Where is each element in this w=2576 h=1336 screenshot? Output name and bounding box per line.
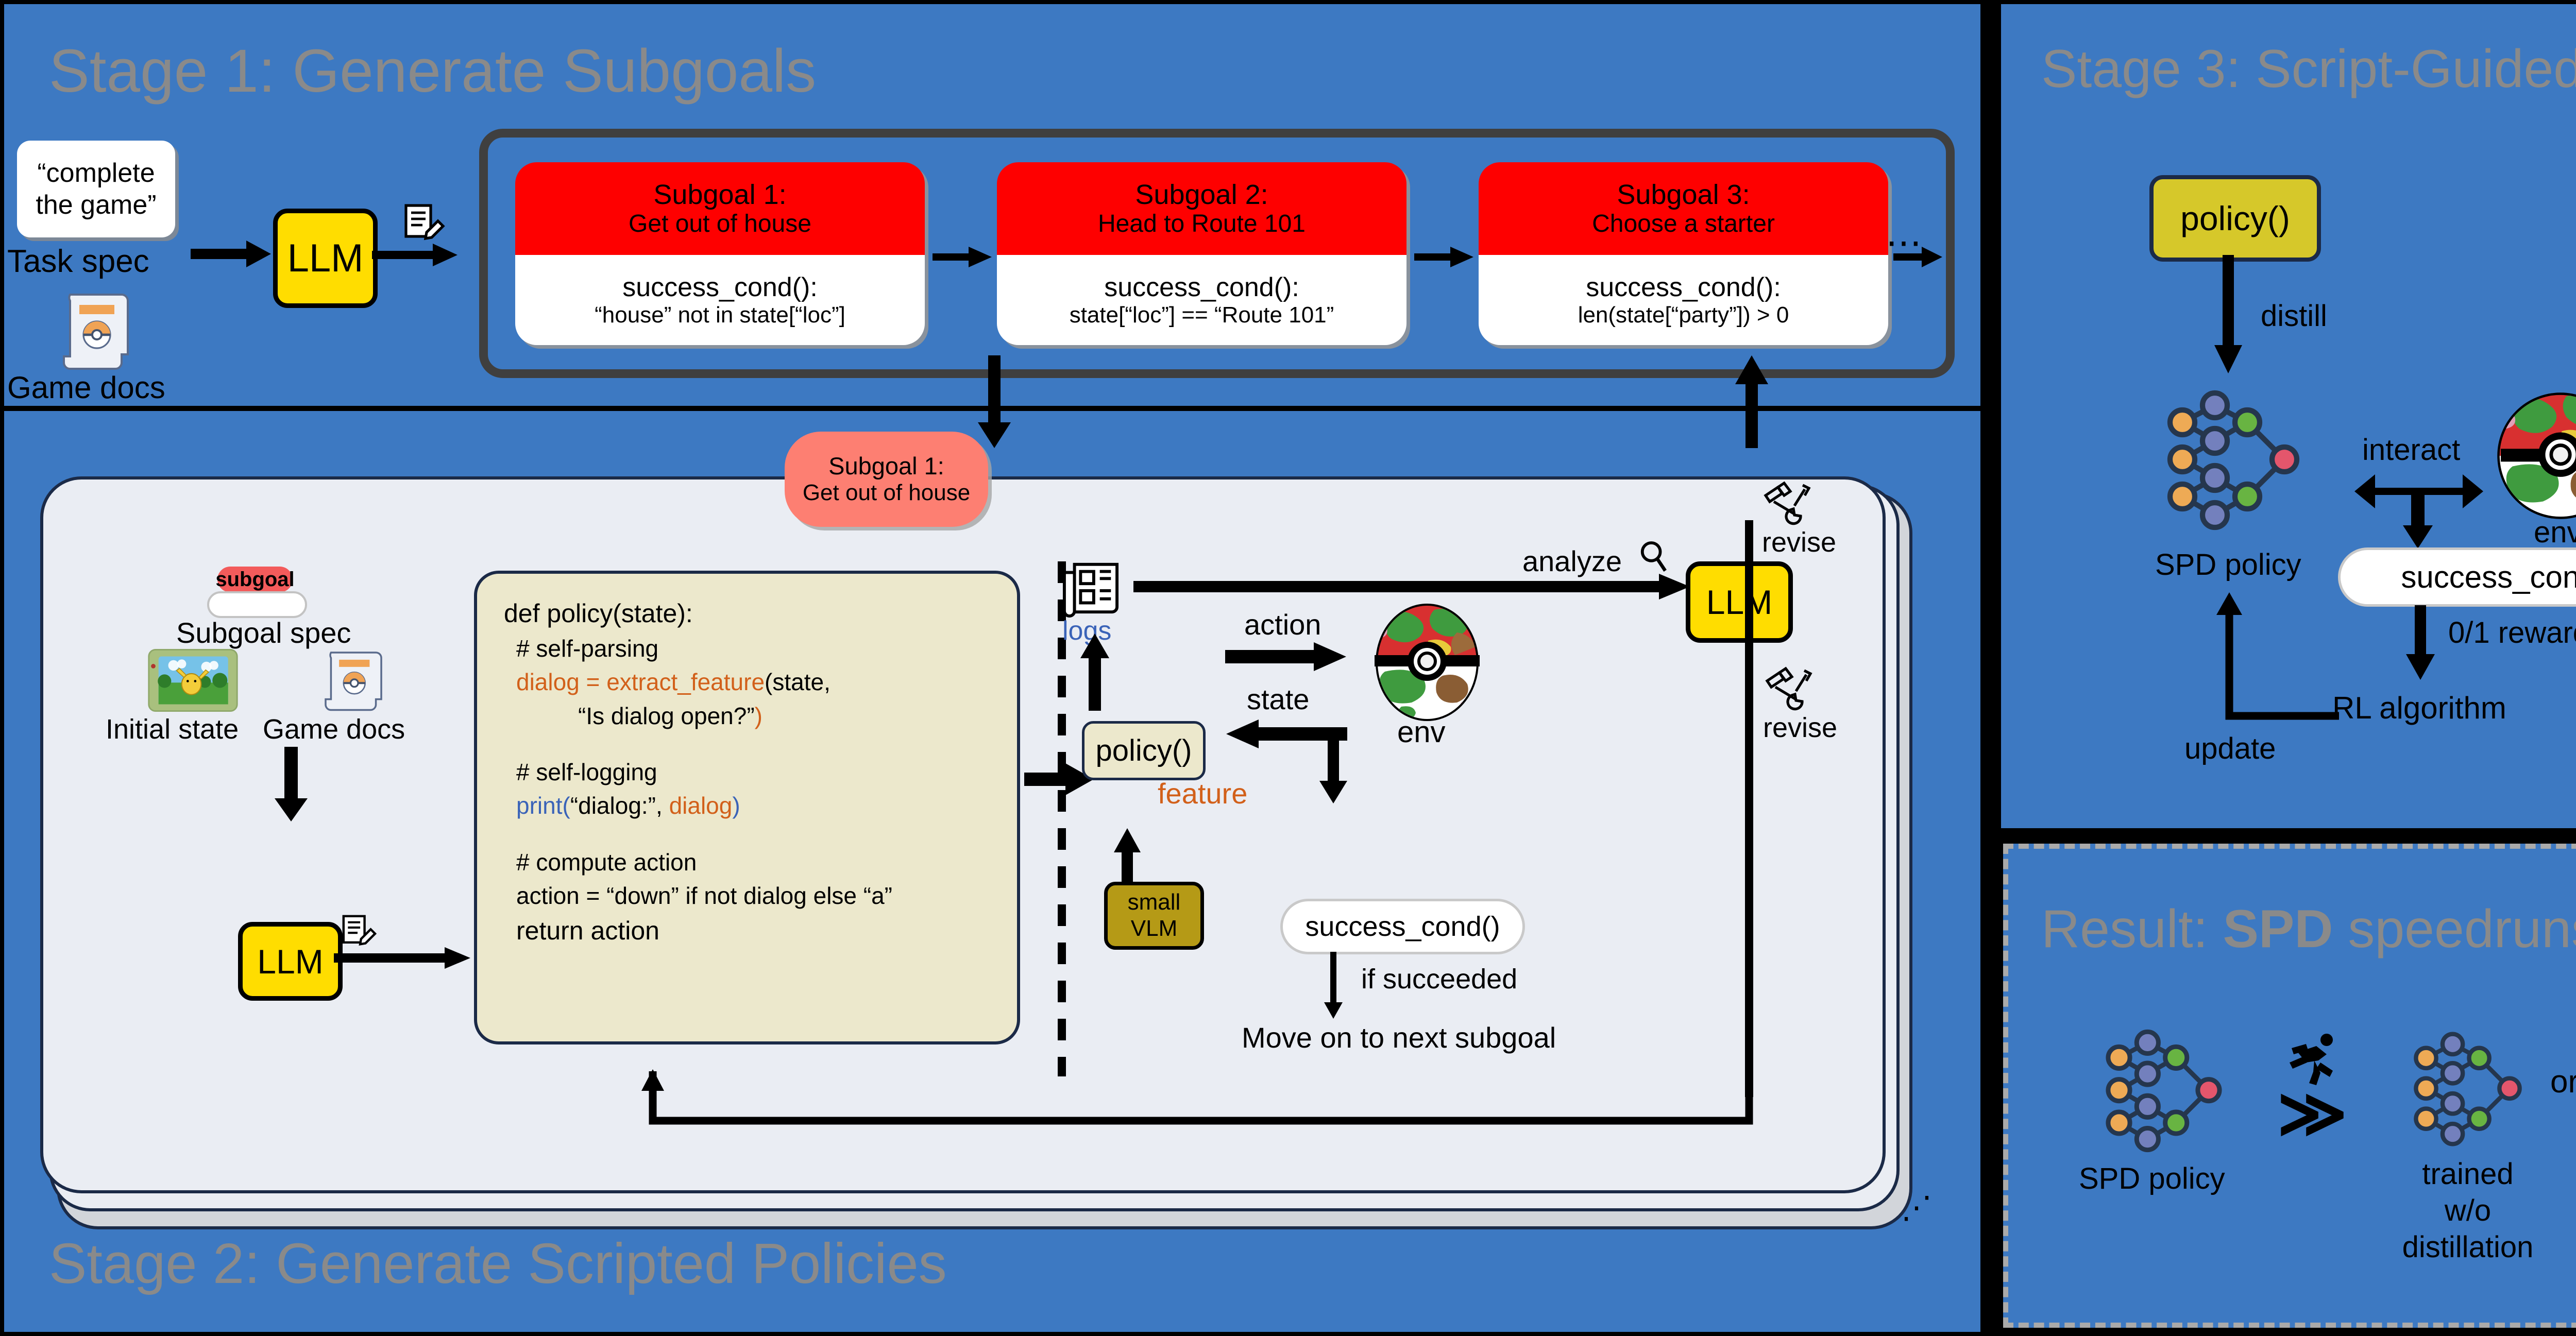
game-docs-icon	[62, 288, 134, 371]
arrow-state-down-to-cond	[1316, 731, 1349, 803]
policy-code-box: def policy(state): # self-parsing dialog…	[474, 571, 1020, 1044]
env-globe-icon	[1370, 604, 1484, 722]
subgoal-spec-label: Subgoal spec	[176, 616, 351, 649]
stage3-spd-policy-label: SPD policy	[2155, 547, 2301, 582]
rl-algorithm-label: RL algorithm	[2332, 690, 2506, 726]
stage2-subgoal-header-title: Subgoal 1:	[828, 452, 944, 480]
arrow-inputs-to-llm	[270, 747, 312, 821]
revise-vertical-line	[1745, 520, 1753, 1097]
magnifier-icon	[1638, 540, 1668, 576]
result-title-prefix: Result:	[2041, 899, 2223, 959]
stage2-subgoal-header-pill: Subgoal 1: Get out of house	[785, 432, 988, 527]
arrow-llm-to-subgoals	[372, 239, 460, 270]
arrow-vlm-to-policy	[1110, 828, 1144, 889]
subgoal-1-desc: Get out of house	[629, 210, 811, 238]
code-line-6-var: dialog	[669, 792, 733, 819]
stage2-game-docs-icon	[323, 649, 387, 712]
subgoal-chip: subgoal	[217, 567, 293, 592]
subgoal-3-title-box: Subgoal 3: Choose a starter	[1479, 162, 1888, 255]
stage3-success-cond-pill: success_cond()	[2338, 547, 2576, 607]
arrow-stage1-to-stage2	[974, 355, 1015, 448]
subgoal-2-title-box: Subgoal 2: Head to Route 101	[997, 162, 1406, 255]
result-or-label: or	[2550, 1064, 2576, 1100]
initial-state-label: Initial state	[106, 713, 239, 745]
arrow-subgoal1-to-2	[933, 243, 992, 271]
result-spd-policy-label: SPD policy	[2079, 1161, 2225, 1196]
subgoal-3-title: Subgoal 3:	[1617, 179, 1750, 210]
subgoal-1-title: Subgoal 1:	[653, 179, 786, 210]
code-line-7: # compute action	[516, 846, 1017, 879]
stage2-success-cond-pill: success_cond()	[1280, 899, 1525, 954]
subgoal-1-cond-box: success_cond(): “house” not in state[“lo…	[515, 255, 925, 345]
stage1-llm-box[interactable]: LLM	[273, 209, 378, 308]
arrow-policy-to-logs	[1077, 633, 1113, 711]
subgoal-2-desc: Head to Route 101	[1098, 210, 1306, 238]
stage2-env-label: env	[1397, 715, 1446, 749]
revise-bottom-label: revise	[1763, 712, 1837, 744]
feature-label: feature	[1158, 777, 1247, 810]
action-label: action	[1244, 608, 1321, 641]
arrow-reward	[2403, 605, 2437, 680]
subgoal-1-cond-body: “house” not in state[“loc”]	[595, 302, 845, 328]
code-line-4-str: “Is dialog open?”	[578, 703, 755, 729]
stage2-title: Stage 2: Generate Scripted Policies	[49, 1231, 947, 1296]
arrow-action-to-env	[1225, 641, 1346, 673]
code-line-6-str: “dialog:”,	[570, 792, 669, 819]
update-label: update	[2184, 731, 2276, 766]
code-line-8: action = “down” if not dialog else “a”	[516, 879, 1017, 913]
policy-box[interactable]: policy()	[1082, 721, 1206, 780]
subgoal-3-cond-box: success_cond(): len(state[“party”]) > 0	[1479, 255, 1888, 345]
result-trained-label: trained w/o distillation	[2375, 1156, 2561, 1265]
much-greater-label: ≫	[2277, 1074, 2347, 1152]
vlm-label: small VLM	[1128, 889, 1181, 941]
subgoal-spec-empty-field[interactable]	[207, 591, 307, 618]
interact-label: interact	[2362, 433, 2460, 467]
arrow-taskspec-to-llm	[191, 234, 273, 270]
code-line-5: # self-logging	[516, 756, 1017, 789]
stage2-subgoal-header-desc: Get out of house	[803, 480, 970, 506]
stage3-env-globe-icon	[2496, 391, 2576, 520]
code-line-9: return action	[516, 913, 1017, 949]
state-label: state	[1247, 682, 1309, 716]
initial-state-icon	[148, 649, 238, 712]
subgoal-3-cond-title: success_cond():	[1586, 272, 1781, 302]
subgoal-3-cond-body: len(state[“party”]) > 0	[1578, 302, 1789, 328]
subgoal-1-title-box: Subgoal 1: Get out of house	[515, 162, 925, 255]
spd-policy-network-icon	[2148, 391, 2318, 546]
move-on-label: Move on to next subgoal	[1242, 1021, 1556, 1054]
code-line-1: def policy(state):	[504, 595, 1017, 632]
code-line-3-call: dialog = extract_feature	[516, 669, 765, 695]
loopback-arrow	[644, 1071, 1762, 1128]
stage2-llm-box-right[interactable]: LLM	[1686, 561, 1793, 643]
if-succeeded-label: if succeeded	[1361, 963, 1517, 995]
result-trained-network-icon	[2398, 1032, 2537, 1160]
code-line-6-open: (	[562, 792, 570, 819]
subgoal-3-desc: Choose a starter	[1592, 210, 1775, 238]
arrow-update	[2210, 592, 2339, 718]
arrow-llm-to-code	[334, 944, 470, 971]
stage2-llm-box-left[interactable]: LLM	[238, 922, 343, 1001]
result-title: Result: SPD speedruns faster	[2041, 899, 2576, 960]
subgoal-ellipsis: ⋯	[1886, 221, 1922, 264]
task-spec-label: Task spec	[7, 243, 149, 280]
code-line-3-args: (state,	[765, 669, 831, 695]
stage3-policy-box[interactable]: policy()	[2149, 175, 2321, 262]
subgoal-2-title: Subgoal 2:	[1135, 179, 1268, 210]
interact-arrow	[2354, 466, 2483, 549]
game-docs-label: Game docs	[7, 370, 165, 405]
code-line-6-close: )	[732, 792, 740, 819]
stage3-title: Stage 3: Script-Guided RL	[2041, 39, 2576, 100]
logs-icon	[1060, 560, 1121, 617]
reward-label: 0/1 reward	[2448, 615, 2576, 650]
task-spec-text: “complete the game”	[36, 157, 156, 221]
stage1-title: Stage 1: Generate Subgoals	[49, 36, 816, 106]
code-line-6-print: print	[516, 792, 562, 819]
subgoal-1-cond-title: success_cond():	[622, 272, 818, 302]
result-trained-text: trained w/o distillation	[2375, 1156, 2561, 1265]
distill-label: distill	[2261, 299, 2327, 333]
arrow-cond-to-next	[1320, 952, 1349, 1019]
stage2-game-docs-label: Game docs	[263, 713, 405, 745]
analyze-label: analyze	[1522, 544, 1622, 578]
subgoal-2-cond-box: success_cond(): state[“loc”] == “Route 1…	[997, 255, 1406, 345]
arrow-subgoal2-to-3	[1414, 243, 1473, 271]
stage3-env-label: env	[2534, 515, 2576, 550]
revise-top-tools-icon	[1759, 479, 1815, 526]
revise-top-label: revise	[1762, 526, 1836, 558]
code-line-2: # self-parsing	[516, 632, 1017, 665]
small-vlm-box[interactable]: small VLM	[1104, 882, 1204, 950]
subgoal-2-cond-body: state[“loc”] == “Route 101”	[1070, 302, 1334, 328]
result-title-suffix: speedruns faster	[2333, 899, 2576, 959]
arrow-distill	[2210, 255, 2246, 373]
revise-bottom-tools-icon	[1761, 664, 1817, 712]
result-title-bold: SPD	[2223, 899, 2333, 959]
task-spec-box: “complete the game”	[17, 141, 175, 237]
arrow-stage2-to-stage1	[1731, 355, 1772, 448]
result-spd-network-icon	[2089, 1030, 2239, 1167]
code-line-4-paren: )	[755, 703, 762, 729]
subgoal-2-cond-title: success_cond():	[1104, 272, 1299, 302]
stage2-stack-dots: ⋰	[1901, 1190, 1932, 1226]
